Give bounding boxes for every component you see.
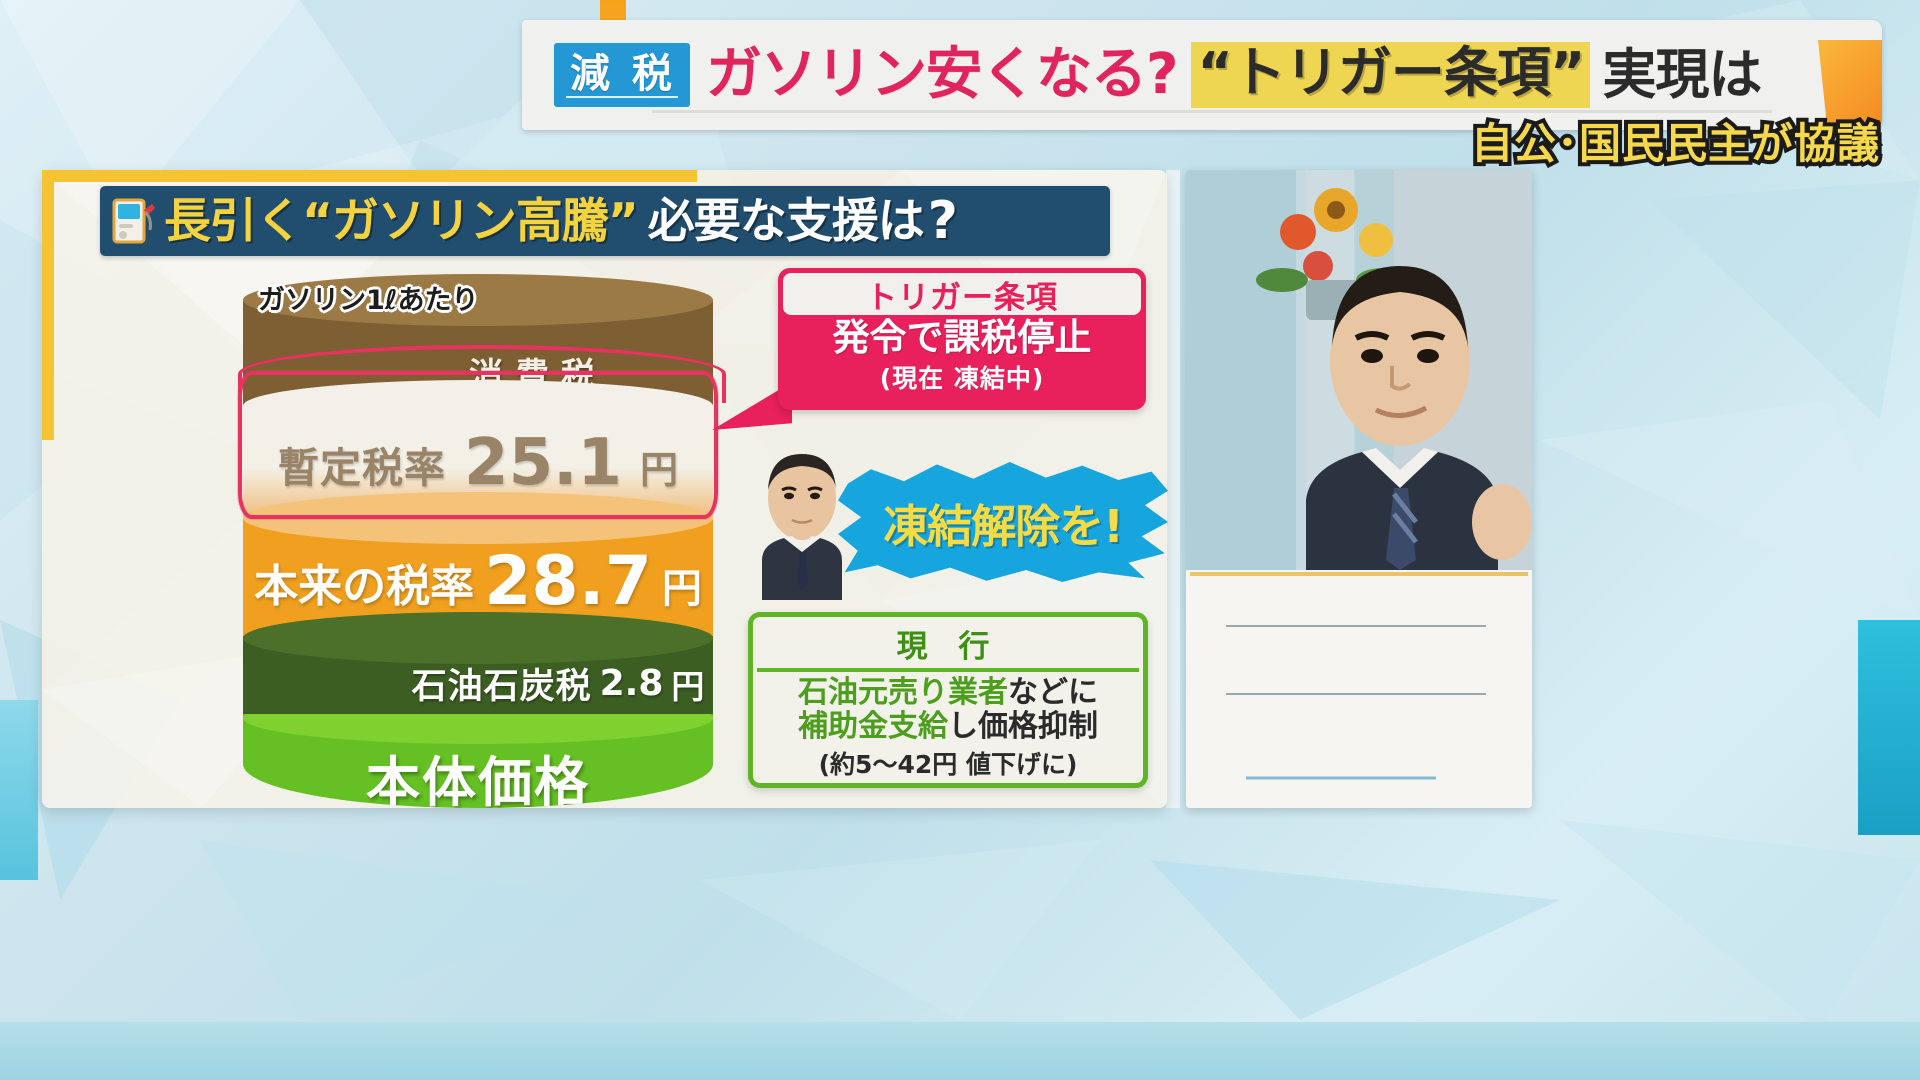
yellow-bracket-vertical	[42, 170, 54, 440]
current-callout-row1-a: 石油元売り業者	[798, 675, 1008, 710]
panel-gap-strip	[1166, 170, 1180, 808]
trigger-callout-header: トリガー条項	[783, 273, 1141, 315]
bottom-band	[0, 1022, 1920, 1080]
current-callout-rule	[757, 668, 1139, 672]
trigger-clause-callout: トリガー条項 発令で課税停止 (現在 凍結中)	[778, 268, 1146, 410]
current-callout-row1: 石油元売り業者などに	[753, 676, 1143, 710]
segment-value-3: 2.8	[600, 663, 664, 704]
sub-headline: 自公･国民民主が協議	[1471, 110, 1880, 171]
panel-title-yellow: 長引く“ガソリン高騰”	[164, 198, 638, 245]
current-callout-note: (約5〜42円 値下げに)	[753, 745, 1143, 781]
unfreeze-bubble-text: 凍結解除を!	[838, 462, 1168, 582]
current-callout-row1-b: などに	[1008, 675, 1098, 710]
current-measures-callout: 現 行 石油元売り業者などに 補助金支給し価格抑制 (約5〜42円 値下げに)	[748, 612, 1148, 788]
segment-label-2: 本来の税率	[254, 550, 474, 614]
panel-title-white: 必要な支援は	[648, 198, 924, 245]
trigger-callout-line1: 発令で課税停止	[783, 319, 1141, 358]
headline-main-text: ガソリン安くなる?	[706, 47, 1177, 103]
segment-label-3: 石油石炭税	[412, 658, 592, 709]
left-teal-accent	[0, 700, 38, 880]
headline-tail-text: 実現は	[1602, 48, 1761, 102]
gas-pump-icon	[112, 196, 158, 246]
trigger-callout-line2: (現在 凍結中)	[783, 359, 1141, 395]
studio-video-panel: トリガー条項 の凍結解除 メリットは 3つの“取りぇが” ①出口②金額③受益 →…	[1186, 170, 1532, 808]
segment-unit-2: 円	[662, 556, 702, 614]
segment-value-1: 25.1	[464, 438, 622, 489]
panel-title-question: ?	[928, 195, 958, 247]
segment-value-2: 28.7	[484, 555, 652, 608]
current-callout-header: 現 行	[753, 621, 1143, 666]
panel-title-bar: 長引く“ガソリン高騰” 必要な支援は ?	[100, 186, 1110, 256]
current-callout-row2: 補助金支給し価格抑制	[753, 710, 1143, 744]
whiteboard-bg	[1186, 570, 1532, 808]
unfreeze-speech-bubble: 凍結解除を!	[838, 462, 1168, 582]
chart-caption: ガソリン1ℓあたり	[258, 278, 479, 317]
chart-segment-base-price: 本体価格	[243, 714, 713, 808]
segment-unit-1: 円	[640, 439, 678, 494]
studio-whiteboard: 3つの“取りぇが” ①出口②金額③受益 → はっきりする!	[1186, 570, 1532, 808]
headline-badge: 減 税	[554, 43, 690, 107]
chart-segment-petroleum-coal-tax: 石油石炭税 2.8 円	[243, 636, 713, 714]
headline-highlight-text: “トリガー条項”	[1191, 42, 1590, 108]
segment-label-1: 暫定税率	[278, 434, 446, 494]
current-callout-row2-a: 補助金支給	[798, 709, 948, 744]
right-teal-accent	[1858, 620, 1920, 835]
current-callout-row2-b: し価格抑制	[948, 709, 1098, 744]
studio-photo	[1186, 170, 1532, 570]
yellow-bracket-horizontal	[42, 170, 697, 182]
segment-label-4: 本体価格	[366, 738, 590, 808]
gasoline-price-cylinder-chart: 消費税 暫定税率 25.1 円 本来の税率 28.7 円 石油石炭税 2.8 円	[243, 300, 713, 800]
segment-unit-3: 円	[671, 660, 704, 708]
